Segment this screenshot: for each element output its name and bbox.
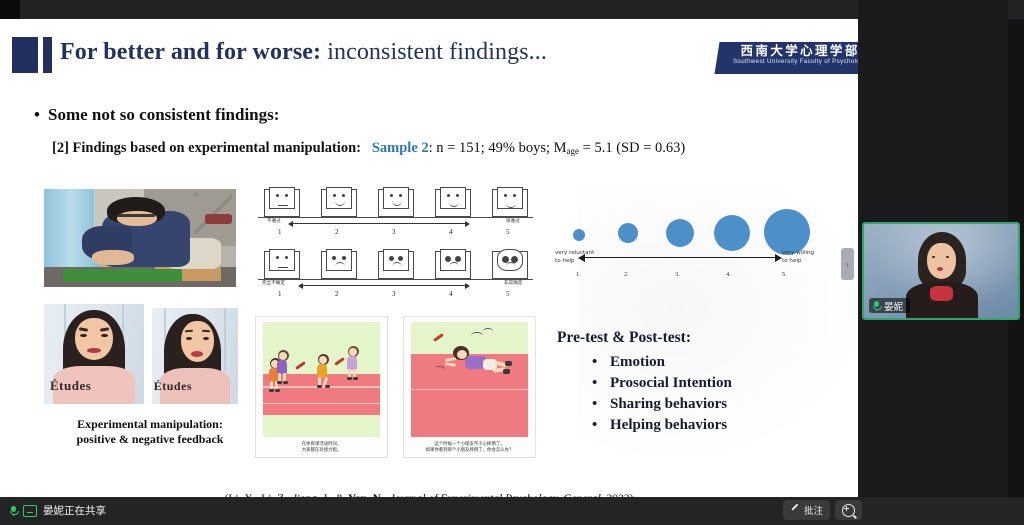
- bubble-right-label: very willing to help: [782, 250, 814, 265]
- bullet-dot-icon: •: [592, 394, 610, 415]
- slide-title-light: inconsistent findings...: [321, 39, 547, 65]
- cartoon-2-caption: 这个时候一个小朋友不小心摔倒了。 如果你看到那个小朋友摔倒了，你会怎么办？: [408, 442, 531, 454]
- bottom-toolbar: [0, 497, 1024, 525]
- photo-experimenter: [44, 189, 236, 287]
- face-row2-num-2: 2: [335, 290, 339, 298]
- cartoon-2-caption-l2: 如果你看到那个小朋友摔倒了，你会怎么办？: [408, 448, 531, 454]
- bullet-dot-icon: •: [592, 373, 610, 394]
- bullet-dot-icon: •: [592, 415, 610, 436]
- bubble-left-label: very reluctant to help: [555, 250, 594, 265]
- shirt-text-negative: Études: [50, 378, 91, 394]
- bubble-num-3: 3.: [675, 271, 680, 278]
- sample-label: Sample 2: [372, 140, 429, 156]
- finding-stats-b: = 5.1 (SD = 0.63): [579, 140, 685, 156]
- photos-caption-line2: positive & negative feedback: [50, 432, 250, 447]
- logo-english-text: Southwest University Faculty of Psycholo…: [718, 58, 858, 66]
- face-row1-left-label: 不难过: [267, 218, 281, 224]
- face-row1-num-4: 4: [449, 228, 453, 236]
- list-item: •Prosocial Intention: [592, 373, 732, 394]
- photos-caption: Experimental manipulation: positive & ne…: [50, 417, 250, 447]
- face-row1-num-5: 5: [506, 228, 510, 236]
- magnifier-plus-icon: [842, 504, 855, 517]
- face-scale-panel: 不难过 很难过 1 2 3 4 5 完全不确定: [258, 187, 533, 305]
- pretest-posttest-list: •Emotion •Prosocial Intention •Sharing b…: [592, 352, 732, 436]
- pretest-item-1: Prosocial Intention: [610, 375, 732, 391]
- pretest-item-0: Emotion: [610, 354, 665, 370]
- pretest-posttest-heading: Pre-test & Post-test:: [557, 329, 691, 347]
- bubble-num-2: 2.: [624, 271, 629, 278]
- list-item: •Emotion: [592, 352, 732, 373]
- top-strip-corner-block: [0, 0, 20, 19]
- finding-prefix: [2] Findings based on experimental manip…: [52, 140, 361, 156]
- bubble-5: [764, 209, 810, 255]
- bubble-right-label-l1: very willing: [782, 250, 814, 256]
- bubble-4: [714, 215, 750, 251]
- finding-line: [2] Findings based on experimental manip…: [52, 140, 685, 157]
- microphone-icon: [873, 301, 880, 311]
- pretest-item-3: Helping behaviors: [610, 417, 727, 433]
- participant-video-tile[interactable]: 晏妮: [862, 222, 1020, 320]
- face-row2-num-4: 4: [449, 290, 453, 298]
- face-scale-row-1: 不难过 很难过 1 2 3 4 5: [258, 187, 533, 239]
- annotation-toolbar: 批注: [783, 500, 862, 520]
- bubble-num-4: 4.: [726, 271, 731, 278]
- zoom-level-button[interactable]: [835, 500, 862, 520]
- bubble-num-1: 1.: [576, 271, 581, 278]
- face-scale-row-2: 完全不确定 非常确定 1 2 3 4 5: [258, 249, 533, 301]
- shared-slide-area[interactable]: For better and for worse: inconsistent f…: [0, 19, 858, 497]
- photo-negative-feedback: Études: [44, 304, 144, 404]
- bubble-num-5: 5.: [782, 271, 787, 278]
- zoom-screen-share-window: For better and for worse: inconsistent f…: [0, 0, 1024, 525]
- bubble-left-label-l2: to help: [555, 258, 575, 264]
- face-row1-num-2: 2: [335, 228, 339, 236]
- participant-name: 晏妮: [884, 299, 903, 313]
- willingness-bubble-scale: very reluctant to help very willing to h…: [556, 195, 836, 291]
- face-row2-num-3: 3: [392, 290, 396, 298]
- share-status-indicator: 晏妮正在共享: [10, 503, 106, 518]
- list-item: •Sharing behaviors: [592, 394, 732, 415]
- face-row1-num-1: 1: [278, 228, 282, 236]
- logo-chinese-text: 西南大学心理学部: [718, 44, 858, 58]
- face-row2-left-label: 完全不确定: [262, 280, 285, 286]
- cartoon-1-caption: 在体育课活动时间， 大家都在玩接力跑。: [260, 442, 383, 454]
- pretest-item-2: Sharing behaviors: [610, 396, 727, 412]
- slide-bullet-heading: •Some not so consistent findings:: [34, 105, 279, 125]
- face-row1-num-3: 3: [392, 228, 396, 236]
- panel-collapse-handle[interactable]: ›: [841, 248, 854, 280]
- bubble-3: [666, 219, 694, 247]
- list-item: •Helping behaviors: [592, 415, 732, 436]
- cartoon-1-caption-l2: 大家都在玩接力跑。: [260, 448, 383, 454]
- cartoon-panel-relay-race: 在体育课活动时间， 大家都在玩接力跑。: [255, 316, 388, 458]
- face-row1-right-label: 很难过: [506, 218, 520, 224]
- face-row2-num-1: 1: [278, 290, 282, 298]
- slide-title-bold: For better and for worse:: [60, 39, 321, 65]
- bubble-scale-arrow: [584, 257, 776, 258]
- bullet-heading-text: Some not so consistent findings:: [48, 105, 279, 124]
- bubble-right-label-l2: to help: [782, 258, 802, 264]
- microphone-icon: [10, 506, 17, 516]
- bubble-left-label-l1: very reluctant: [555, 250, 594, 256]
- bubble-1: [573, 229, 585, 241]
- finding-stats-a: : n = 151; 49% boys; M: [429, 140, 567, 156]
- photo-positive-feedback: Études: [152, 308, 238, 404]
- screen-share-icon: [23, 505, 37, 517]
- shirt-text-positive: Études: [154, 379, 192, 394]
- finding-stats-subscript: age: [567, 146, 580, 156]
- bullet-dot-icon: •: [592, 352, 610, 373]
- annotate-label: 批注: [804, 503, 823, 517]
- face-row2-num-5: 5: [506, 290, 510, 298]
- face-row2-right-label: 非常确定: [504, 280, 522, 286]
- annotate-button[interactable]: 批注: [783, 500, 830, 520]
- participant-name-badge: 晏妮: [869, 298, 910, 313]
- bubble-2: [618, 223, 638, 243]
- photos-caption-line1: Experimental manipulation:: [50, 417, 250, 432]
- cartoon-panel-child-falls: 这个时候一个小朋友不小心摔倒了。 如果你看到那个小朋友摔倒了，你会怎么办？: [403, 316, 536, 458]
- university-logo: 西南大学心理学部 Southwest University Faculty of…: [714, 42, 858, 74]
- bullet-dot-icon: •: [34, 105, 48, 125]
- slide-title: For better and for worse: inconsistent f…: [60, 39, 547, 66]
- pen-icon: [790, 505, 800, 515]
- share-status-text: 晏妮正在共享: [43, 503, 106, 518]
